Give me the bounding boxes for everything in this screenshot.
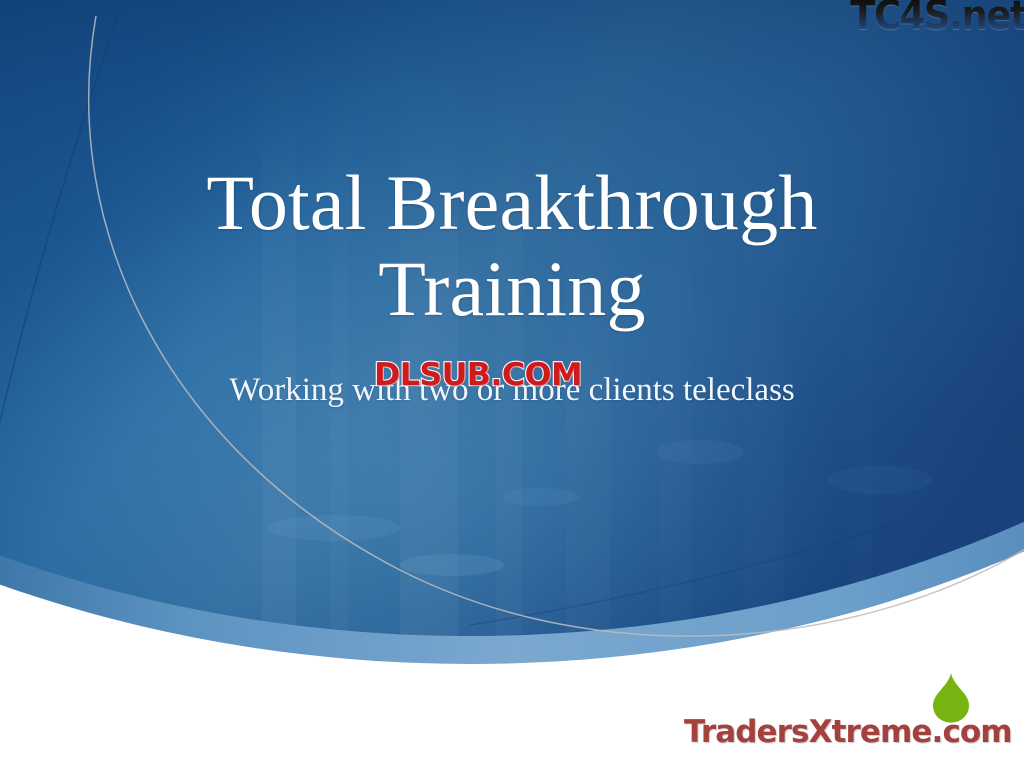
grey-arc-hidden [86,5,1024,620]
texture-blotches [268,440,932,576]
grey-sweep-arc [89,16,1024,636]
droplet-icon [930,672,972,729]
background-arc-dark-2 [470,470,1024,625]
green-droplet-icon [930,672,972,724]
watermark-dlsub: DLSUB.COM [374,360,582,391]
watermark-tc4s: TC4S.net [850,0,1024,36]
background-arc-dark [0,0,128,520]
slide-title: Total Breakthrough Training [96,160,928,332]
presentation-slide: Total Breakthrough Training Working with… [0,0,1024,768]
